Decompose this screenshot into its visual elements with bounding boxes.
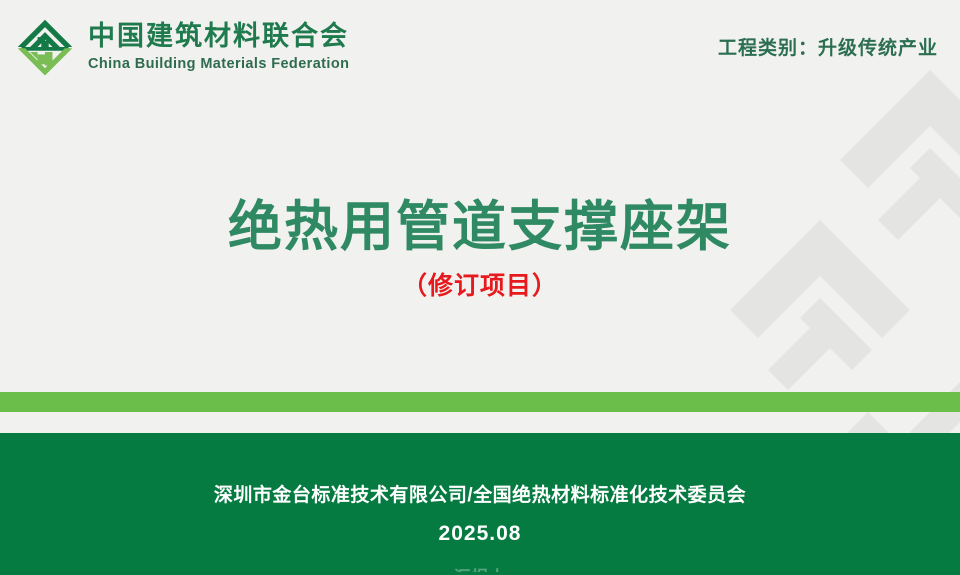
footer-date: 2025.08 — [0, 522, 960, 546]
federation-name-cn: 中国建筑材料联合会 — [88, 23, 349, 50]
federation-brand: 中国建筑材料联合会 China Building Materials Feder… — [14, 16, 349, 78]
footer-organization: 深圳市金台标准技术有限公司/全国绝热材料标准化技术委员会 — [0, 480, 960, 507]
federation-name-block: 中国建筑材料联合会 China Building Materials Feder… — [88, 23, 349, 72]
title-block: 绝热用管道支撑座架 （修订项目） — [0, 196, 960, 302]
presentation-title-slide: 中国建筑材料联合会 China Building Materials Feder… — [0, 0, 960, 575]
slide-main-title: 绝热用管道支撑座架 — [0, 196, 960, 258]
footer-cutoff-text: 汇报人 — [0, 563, 960, 572]
light-green-divider-stripe — [0, 392, 960, 412]
slide-header: 中国建筑材料联合会 China Building Materials Feder… — [0, 0, 960, 95]
slide-subtitle: （修订项目） — [0, 266, 960, 302]
federation-name-en: China Building Materials Federation — [88, 57, 349, 72]
footer-green-band: 深圳市金台标准技术有限公司/全国绝热材料标准化技术委员会 2025.08 汇报人 — [0, 433, 960, 575]
cbmf-logo-icon — [14, 16, 76, 78]
project-category-label: 工程类别：升级传统产业 — [718, 33, 938, 60]
